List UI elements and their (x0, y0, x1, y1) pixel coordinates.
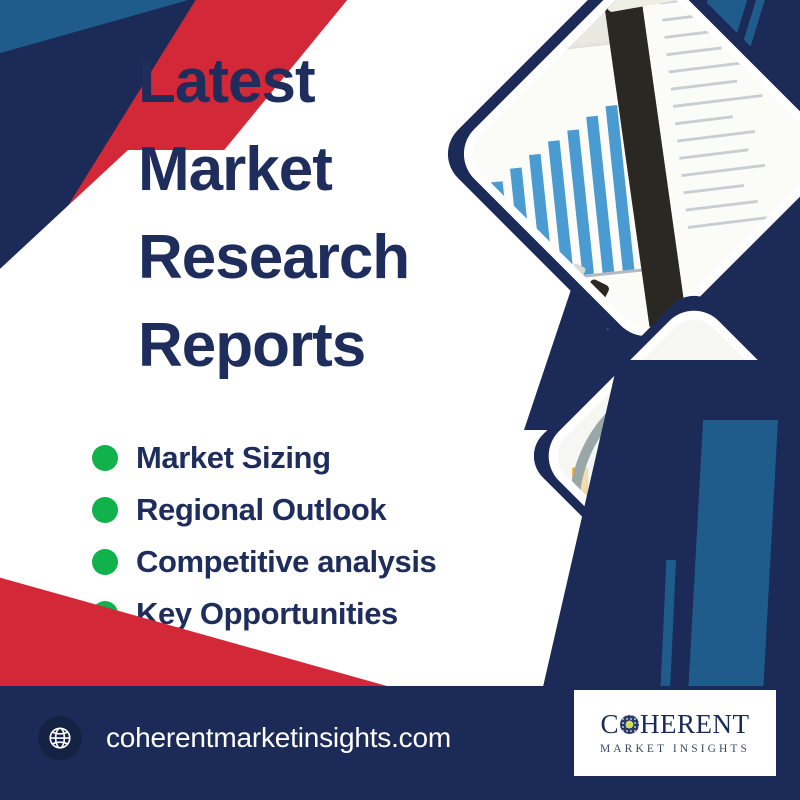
logo-wordmark: C HERENT (601, 711, 750, 738)
bullet-label: Market Sizing (136, 440, 331, 476)
list-item: Competitive analysis (92, 536, 562, 588)
bullet-label: Competitive analysis (136, 544, 436, 580)
bullet-dot-icon (92, 445, 118, 471)
headline-line-4: Reports (138, 302, 538, 390)
feature-bullet-list: Market Sizing Regional Outlook Competiti… (92, 432, 562, 640)
bullet-label: Regional Outlook (136, 492, 386, 528)
headline-line-3: Research (138, 214, 538, 302)
logo-letter-c: C (601, 711, 620, 738)
logo-rest: HERENT (640, 711, 749, 738)
list-item: Key Opportunities (92, 588, 562, 640)
list-item: Regional Outlook (92, 484, 562, 536)
bullet-dot-icon (92, 601, 118, 627)
bullet-dot-icon (92, 497, 118, 523)
bullet-label: Key Opportunities (136, 596, 398, 632)
globe-icon (38, 716, 82, 760)
page-title: Latest Market Research Reports (138, 38, 538, 390)
website-link[interactable]: coherentmarketinsights.com (38, 716, 451, 760)
sphere-grid-logo-mark-icon (620, 715, 639, 734)
website-url-text: coherentmarketinsights.com (106, 722, 451, 754)
bullet-dot-icon (92, 549, 118, 575)
chart-tick-may: May (593, 569, 619, 584)
logo-tagline: MARKET INSIGHTS (600, 743, 750, 755)
company-logo: C HERENT MARKET INSIGHTS (574, 690, 776, 776)
promotional-poster: May Jun 175.00 Latest Market (0, 0, 800, 800)
list-item: Market Sizing (92, 432, 562, 484)
headline-line-1: Latest (138, 38, 538, 126)
headline-line-2: Market (138, 126, 538, 214)
